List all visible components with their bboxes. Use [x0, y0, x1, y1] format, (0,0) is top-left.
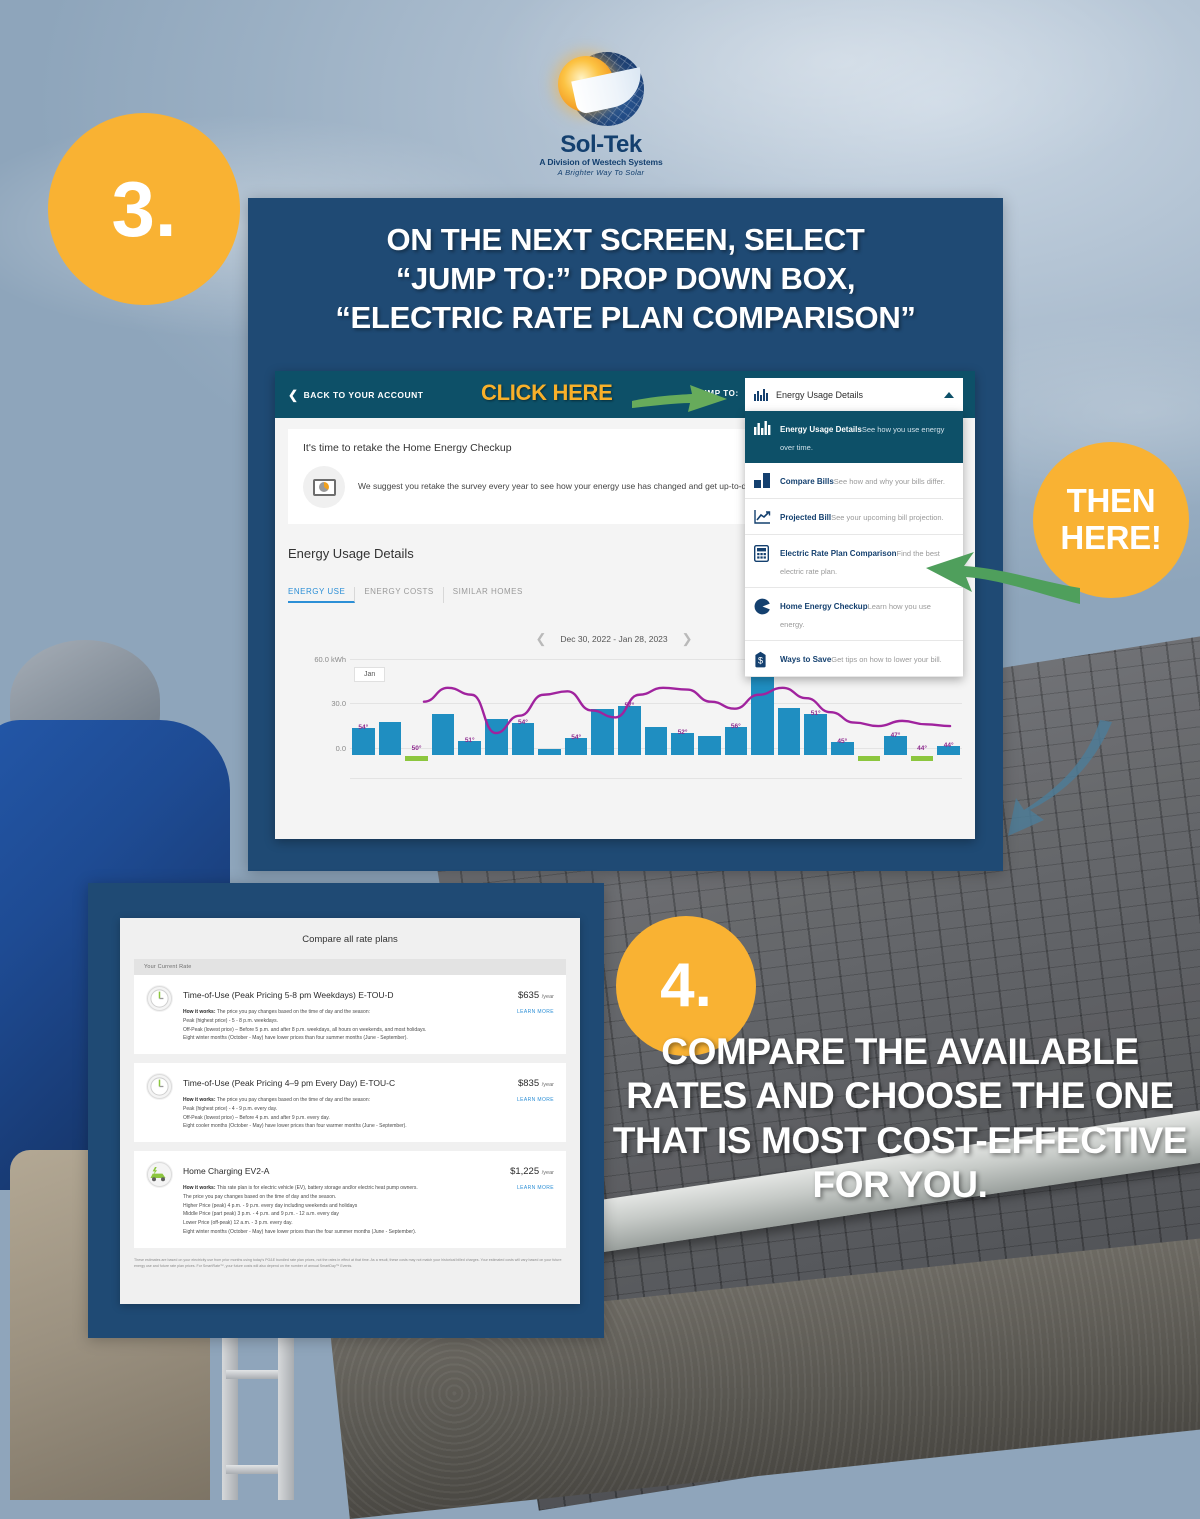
chart-returned-bar [858, 756, 881, 761]
dropdown-item-title: Ways to Save [780, 655, 831, 664]
chart-bar-group [858, 659, 881, 779]
headline-line-2: “JUMP TO:” DROP DOWN BOX, [264, 259, 987, 298]
chart-returned-bar [911, 756, 934, 761]
svg-text:$: $ [758, 656, 763, 666]
chart-bar-group: 47° [884, 659, 907, 779]
step-badge-3: 3. [48, 113, 240, 305]
chart-bar [778, 708, 801, 756]
pie-chart-icon [754, 598, 771, 615]
chart-temp-label: 54° [571, 734, 581, 741]
bar-chart-icon [754, 389, 768, 401]
chart-bar [618, 706, 641, 755]
brand-logo: Sol-Tek A Division of Westech Systems A … [537, 52, 665, 172]
chart-bar [804, 714, 827, 755]
rate-plan-price-unit: /year [542, 1170, 554, 1176]
chart-bar [379, 722, 402, 755]
curved-arrow-down-icon [1000, 718, 1120, 848]
rate-plan-price: $835 /year [518, 1078, 554, 1089]
chart-temp-label: 51° [465, 737, 475, 744]
chart-bar [485, 719, 508, 755]
dropdown-item-ways-to-save[interactable]: $Ways to SaveGet tips on how to lower yo… [745, 641, 963, 677]
how-it-works-label: How it works: [183, 1009, 216, 1015]
chart-bar [591, 709, 614, 755]
rate-card-disclaimer: These estimates are based on your electr… [134, 1257, 566, 1270]
energy-usage-app-screenshot: ❮ BACK TO YOUR ACCOUNT CLICK HERE JUMP T… [275, 371, 975, 839]
learn-more-link[interactable]: LEARN MORE [476, 1185, 554, 1191]
chart-plot-area: 54°50°51°54°54°57°52°56°51°45°47°44°44° [350, 659, 962, 779]
how-it-works-label: How it works: [183, 1185, 216, 1191]
rate-plan-how-line: Middle Price (part peak) 3 p.m. - 4 p.m.… [183, 1211, 339, 1217]
chart-bar-group [698, 659, 721, 779]
rate-plan-price: $1,225 /year [510, 1166, 554, 1177]
chevron-right-icon[interactable]: ❯ [682, 631, 693, 647]
rate-plan-how-line: The price you pay changes based on the t… [217, 1009, 370, 1015]
chart-temp-label: 54° [518, 719, 528, 726]
chart-temp-label: 45° [837, 738, 847, 745]
tab-similar-homes[interactable]: SIMILAR HOMES [444, 587, 532, 603]
ladder-step [226, 1370, 278, 1379]
step4-instruction: COMPARE THE AVAILABLE RATES AND CHOOSE T… [608, 1030, 1192, 1208]
chart-bar-group [778, 659, 801, 779]
rate-plan-how-line: Lower Price (off-peak) 12 a.m. - 3 p.m. … [183, 1220, 293, 1226]
app-navbar: ❮ BACK TO YOUR ACCOUNT CLICK HERE JUMP T… [275, 371, 975, 418]
chart-bar-group: 54° [565, 659, 588, 779]
chart-temp-label: 44° [944, 742, 954, 749]
rate-plan-row[interactable]: Time-of-Use (Peak Pricing 5-8 pm Weekday… [134, 975, 566, 1054]
chart-bar-group: 51° [458, 659, 481, 779]
chart-y-axis: 60.0 kWh 30.0 0.0 [296, 659, 348, 779]
dropdown-item-energy-usage-details[interactable]: Energy Usage DetailsSee how you use ener… [745, 411, 963, 463]
chart-temp-label: 52° [678, 729, 688, 736]
caret-up-icon[interactable] [944, 392, 954, 398]
rate-plan-how-it-works: How it works: The price you pay changes … [183, 1008, 466, 1043]
rate-plan-how-line: Eight winter months (October - May) have… [183, 1229, 416, 1235]
chart-bar [432, 714, 455, 755]
chevron-left-icon[interactable]: ❮ [535, 631, 546, 647]
dropdown-item-title: Energy Usage Details [780, 425, 862, 434]
rate-plan-how-line: Off-Peak (lowest price) – Before 4 p.m. … [183, 1115, 330, 1121]
how-it-works-label: How it works: [183, 1097, 216, 1103]
chart-bar-group [591, 659, 614, 779]
chart-bar-group [432, 659, 455, 779]
ladder-step [226, 1465, 278, 1474]
dropdown-item-title: Compare Bills [780, 477, 834, 486]
chart-bar [725, 727, 748, 756]
laptop-screen [313, 479, 336, 496]
jump-to-selected-value: Energy Usage Details [776, 390, 936, 400]
green-arrow-right-icon [630, 382, 730, 416]
rate-plan-list: Time-of-Use (Peak Pricing 5-8 pm Weekday… [134, 975, 566, 1248]
clock-icon [146, 1073, 173, 1100]
brand-division: A Division of Westech Systems [537, 157, 665, 167]
chart-temp-label: 47° [891, 732, 901, 739]
chart-bar-group: 52° [671, 659, 694, 779]
rate-plan-price: $635 /year [518, 990, 554, 1001]
dropdown-item-desc: See your upcoming bill projection. [831, 513, 944, 522]
line-chart-icon [754, 509, 771, 526]
solar-panel-sun-logo-icon [558, 52, 644, 130]
chart-temp-label: 54° [358, 724, 368, 731]
chart-bar-group: 50° [405, 659, 428, 779]
chart-bar [671, 733, 694, 755]
rate-plan-how-line: Eight cooler months (October - May) have… [183, 1123, 407, 1129]
rate-plan-price-unit: /year [542, 1082, 554, 1088]
chart-bar [512, 723, 535, 755]
jump-to-select[interactable]: Energy Usage Details [745, 378, 963, 411]
rate-plan-row[interactable]: Time-of-Use (Peak Pricing 4–9 pm Every D… [134, 1063, 566, 1142]
rate-plan-how-it-works: How it works: This rate plan is for elec… [183, 1184, 466, 1237]
chart-bar [751, 674, 774, 755]
chart-bar-group: 51° [804, 659, 827, 779]
chart-temp-label: 51° [811, 710, 821, 717]
dropdown-item-title: Projected Bill [780, 513, 831, 522]
price-tag-dollar-icon: $ [754, 651, 771, 668]
rate-plan-how-line: Peak (highest price) - 5 - 8 p.m. weekda… [183, 1018, 278, 1024]
rate-plan-name: Time-of-Use (Peak Pricing 5-8 pm Weekday… [183, 990, 394, 1000]
dropdown-item-title: Electric Rate Plan Comparison [780, 549, 896, 558]
rate-plan-how-it-works: How it works: The price you pay changes … [183, 1096, 466, 1131]
rate-plan-row[interactable]: Home Charging EV2-AHow it works: This ra… [134, 1151, 566, 1248]
rate-card-title: Compare all rate plans [134, 934, 566, 945]
back-to-account-link[interactable]: ❮ BACK TO YOUR ACCOUNT [288, 389, 423, 401]
chart-bar-group: 57° [618, 659, 641, 779]
chart-month-marker: Jan [354, 667, 385, 682]
back-to-account-label: BACK TO YOUR ACCOUNT [304, 390, 424, 400]
clock-icon [146, 985, 173, 1012]
chart-bar [538, 749, 561, 755]
chart-bar-group: 44° [937, 659, 960, 779]
chart-temp-label: 50° [412, 745, 422, 752]
chart-bar-group: 56° [725, 659, 748, 779]
headline-line-3: “ELECTRIC RATE PLAN COMPARISON” [264, 298, 987, 337]
rate-plan-how-line: Peak (highest price) - 4 - 9 p.m. every … [183, 1106, 277, 1112]
chart-bar [698, 736, 721, 755]
date-range-label: Dec 30, 2022 - Jan 28, 2023 [560, 634, 667, 644]
rate-plan-how-line: Eight winter months (October - May) have… [183, 1035, 408, 1041]
compare-bars-icon [754, 473, 771, 490]
pie-chart-icon [319, 482, 329, 492]
brand-tagline: A Brighter Way To Solar [537, 168, 665, 177]
rate-plan-name: Home Charging EV2-A [183, 1166, 269, 1176]
y-tick-0: 0.0 [336, 744, 346, 753]
chevron-left-icon: ❮ [288, 389, 299, 401]
chart-bar-group: 54° [512, 659, 535, 779]
y-tick-60: 60.0 kWh [314, 655, 346, 664]
y-tick-30: 30.0 [331, 699, 346, 708]
chart-bar-group [485, 659, 508, 779]
energy-usage-chart: 60.0 kWh 30.0 0.0 54°50°51°54°54°57°52°5… [288, 659, 962, 779]
chart-bar-group: 45° [831, 659, 854, 779]
learn-more-link[interactable]: LEARN MORE [476, 1009, 554, 1015]
headline-line-1: ON THE NEXT SCREEN, SELECT [264, 220, 987, 259]
chart-bar-group [751, 659, 774, 779]
rate-plan-how-line: The price you pay changes based on the t… [183, 1194, 336, 1200]
rate-plan-how-line: This rate plan is for electric vehicle (… [217, 1185, 418, 1191]
brand-name: Sol-Tek [537, 132, 665, 157]
tab-energy-costs[interactable]: ENERGY COSTS [355, 587, 443, 603]
green-arrow-left-icon [922, 542, 1082, 610]
chart-temp-label: 56° [731, 723, 741, 730]
chart-bar [352, 728, 375, 755]
learn-more-link[interactable]: LEARN MORE [476, 1097, 554, 1103]
chart-temp-label: 44° [917, 745, 927, 752]
rate-plan-name: Time-of-Use (Peak Pricing 4–9 pm Every D… [183, 1078, 395, 1088]
dropdown-item-desc: Get tips on how to lower your bill. [831, 655, 941, 664]
rate-plan-comparison-screenshot: Compare all rate plans Your Current Rate… [120, 918, 580, 1304]
chart-bar-group: 44° [911, 659, 934, 779]
tab-energy-use[interactable]: ENERGY USE [288, 587, 355, 603]
laptop-pie-chart-icon [303, 466, 345, 508]
calculator-icon [754, 545, 771, 562]
dropdown-item-compare-bills[interactable]: Compare BillsSee how and why your bills … [745, 463, 963, 499]
chart-bar [645, 727, 668, 756]
ev-car-icon [146, 1161, 173, 1188]
rate-plan-price-unit: /year [542, 994, 554, 1000]
bar-chart-icon [754, 421, 771, 438]
chart-temp-label: 57° [624, 702, 634, 709]
dropdown-item-desc: See how and why your bills differ. [834, 477, 945, 486]
dropdown-item-title: Home Energy Checkup [780, 602, 868, 611]
chart-bars: 54°50°51°54°54°57°52°56°51°45°47°44°44° [350, 659, 962, 779]
rate-plan-how-line: Higher Price (peak) 4 p.m. - 9 p.m. ever… [183, 1203, 357, 1209]
step3-headline: ON THE NEXT SCREEN, SELECT “JUMP TO:” DR… [248, 198, 1003, 337]
click-here-callout: CLICK HERE [481, 380, 612, 406]
dropdown-item-projected-bill[interactable]: Projected BillSee your upcoming bill pro… [745, 499, 963, 535]
chart-returned-bar [405, 756, 428, 761]
rate-plan-how-line: The price you pay changes based on the t… [217, 1097, 370, 1103]
chart-bar-group [538, 659, 561, 779]
current-rate-header: Your Current Rate [134, 959, 566, 975]
rate-plan-how-line: Off-Peak (lowest price) – Before 5 p.m. … [183, 1027, 426, 1033]
chart-bar-group [645, 659, 668, 779]
